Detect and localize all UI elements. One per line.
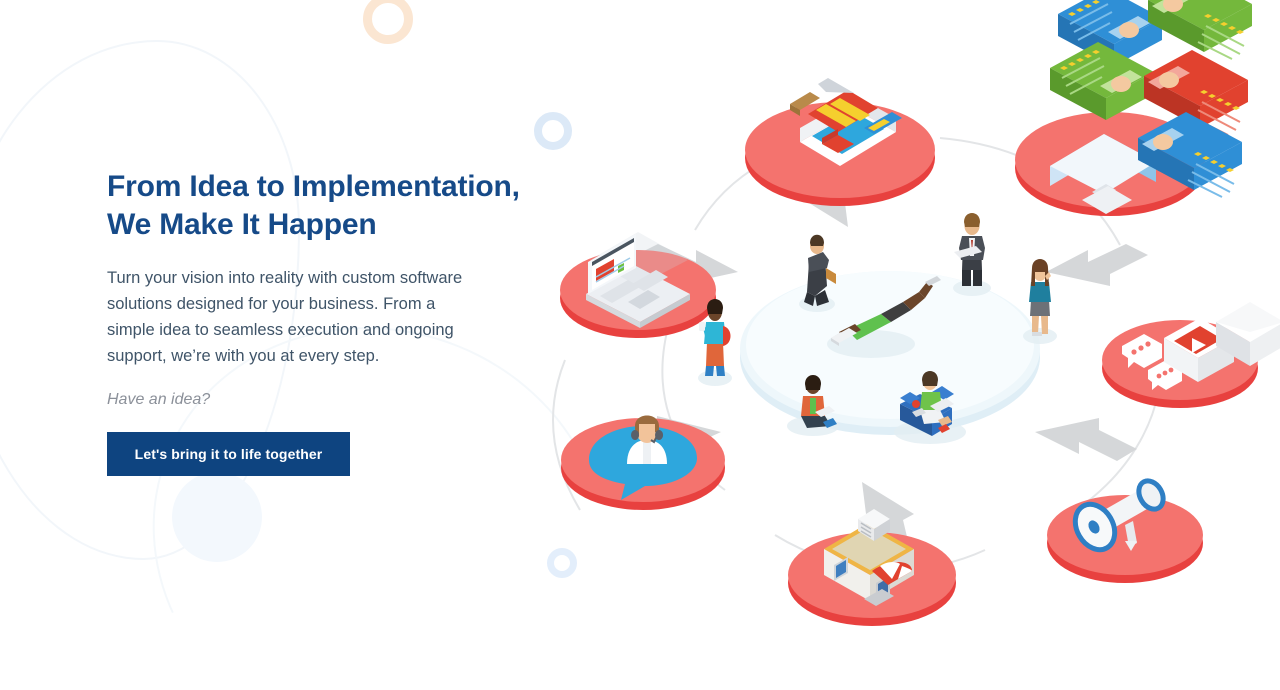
mobile-storefront-icon bbox=[745, 78, 935, 206]
megaphone-icon bbox=[1047, 477, 1203, 583]
video-chat-mail-icon bbox=[1102, 302, 1280, 408]
headline-line-2: We Make It Happen bbox=[107, 206, 527, 244]
shop-building-icon bbox=[788, 509, 956, 626]
hero-illustration bbox=[520, 0, 1280, 690]
review-card bbox=[1050, 42, 1154, 120]
review-cards-icon bbox=[1015, 0, 1252, 216]
cta-button[interactable]: Let's bring it to life together bbox=[107, 432, 350, 476]
headline-line-1: From Idea to Implementation, bbox=[107, 170, 520, 203]
hero-description: Turn your vision into reality with custo… bbox=[107, 265, 479, 369]
decorative-orange-ring-icon bbox=[363, 0, 413, 44]
person-businessman-walking bbox=[799, 235, 836, 312]
review-card bbox=[1148, 0, 1252, 59]
page-title: From Idea to Implementation, We Make It … bbox=[107, 168, 527, 245]
background-soft-disc bbox=[172, 472, 262, 562]
hero-prompt: Have an idea? bbox=[107, 391, 527, 409]
hero-copy: From Idea to Implementation, We Make It … bbox=[107, 168, 527, 476]
hero-section: From Idea to Implementation, We Make It … bbox=[0, 0, 1280, 690]
person-businessman-tablet bbox=[953, 213, 991, 296]
laptop-icon bbox=[560, 228, 716, 338]
